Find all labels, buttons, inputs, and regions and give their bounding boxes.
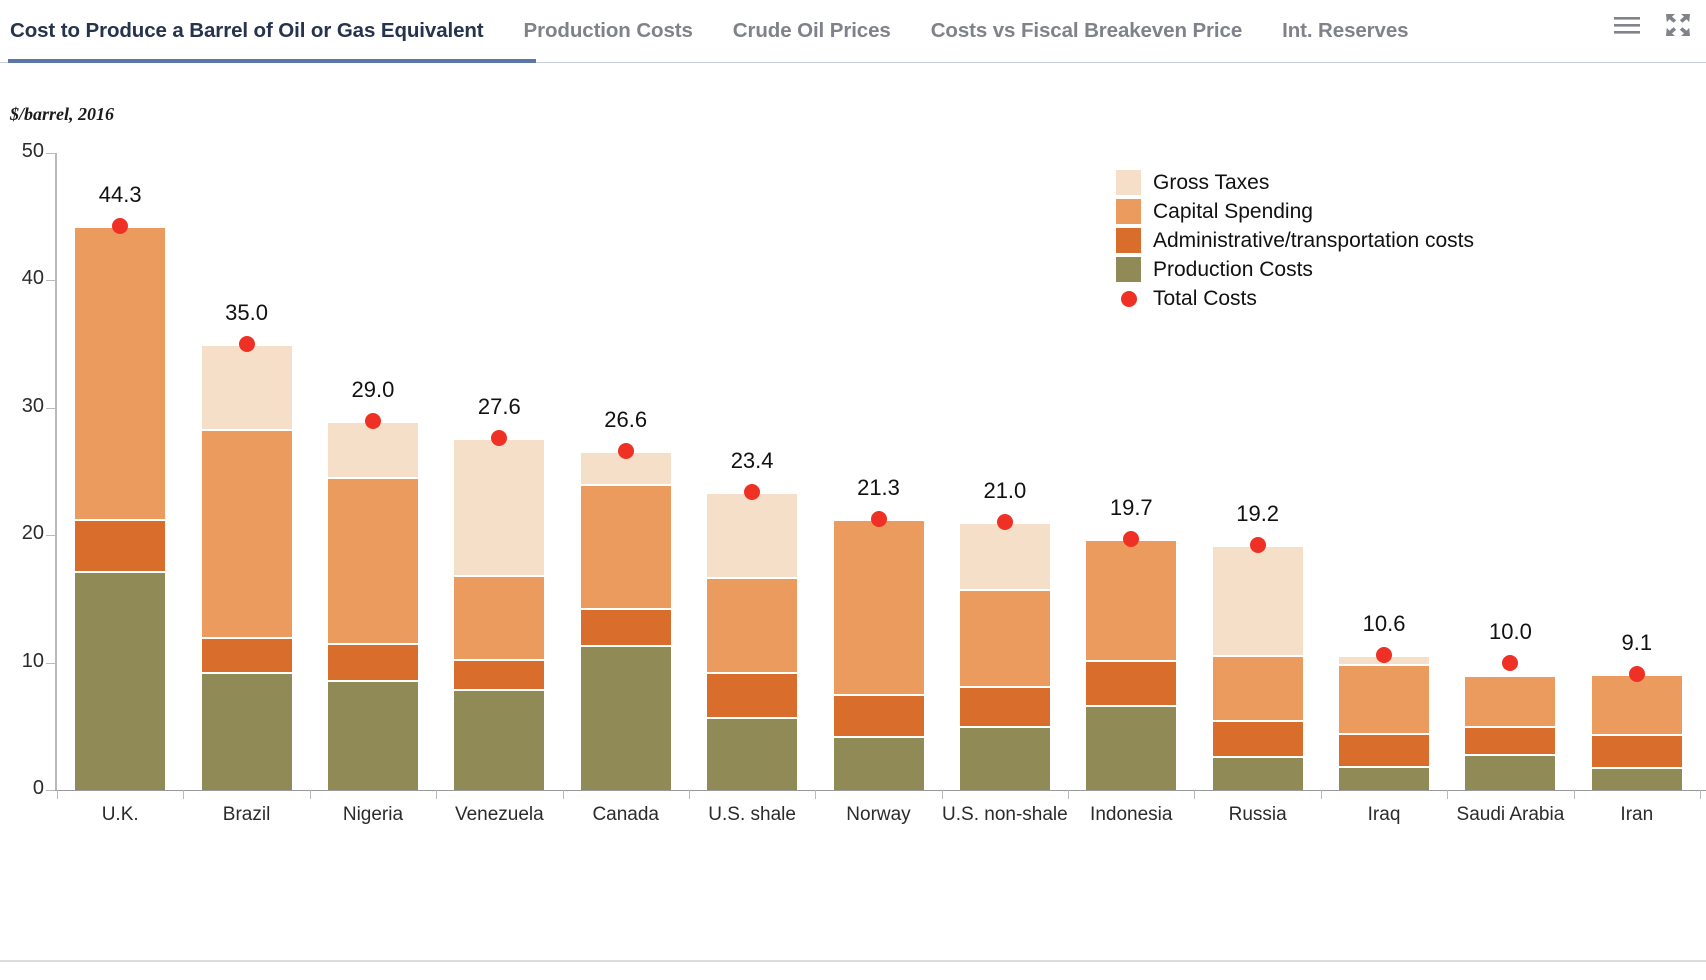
bar-segment[interactable]: [202, 344, 292, 429]
expand-fullscreen-icon[interactable]: [1664, 12, 1692, 38]
bar-stack[interactable]: [834, 140, 924, 790]
tab-cost-to-produce-a-barrel[interactable]: Cost to Produce a Barrel of Oil or Gas E…: [10, 0, 484, 62]
tab-gap: [891, 31, 931, 32]
tab-production-costs[interactable]: Production Costs: [524, 0, 693, 62]
bar-segment[interactable]: [1465, 726, 1555, 754]
bar-segment[interactable]: [454, 438, 544, 574]
bar-segment[interactable]: [328, 643, 418, 680]
chart-legend: Gross TaxesCapital SpendingAdministrativ…: [1116, 168, 1474, 313]
footer-divider: [0, 960, 1706, 962]
tab-int-reserves[interactable]: Int. Reserves: [1282, 0, 1408, 62]
total-cost-marker[interactable]: [1376, 647, 1392, 663]
x-axis-category-label: Norway: [815, 804, 941, 826]
bar-value-label: 19.7: [1071, 495, 1191, 521]
bar-segment[interactable]: [707, 672, 797, 718]
bar-segment[interactable]: [328, 680, 418, 790]
x-axis-category-label: U.K.: [57, 804, 183, 826]
bar-segment[interactable]: [1465, 754, 1555, 790]
legend-item[interactable]: Capital Spending: [1116, 197, 1474, 226]
legend-color-swatch: [1116, 228, 1141, 253]
x-axis-category-label: Venezuela: [436, 804, 562, 826]
bar-segment[interactable]: [707, 492, 797, 577]
x-axis-category-label: Russia: [1194, 804, 1320, 826]
bar-segment[interactable]: [960, 726, 1050, 790]
bar-segment[interactable]: [581, 608, 671, 645]
bar-segment[interactable]: [1213, 545, 1303, 655]
legend-color-swatch: [1116, 257, 1141, 282]
bar-stack[interactable]: [1592, 140, 1682, 790]
bar-value-label: 29.0: [313, 377, 433, 403]
total-cost-marker[interactable]: [365, 413, 381, 429]
legend-label: Total Costs: [1153, 287, 1257, 311]
bar-segment[interactable]: [454, 575, 544, 659]
x-axis-category-label: Canada: [563, 804, 689, 826]
bar-segment[interactable]: [1213, 655, 1303, 720]
x-axis-category-label: Nigeria: [310, 804, 436, 826]
bar-segment[interactable]: [834, 736, 924, 790]
bar-stack[interactable]: [581, 140, 671, 790]
hamburger-menu-icon[interactable]: [1612, 13, 1642, 37]
bar-segment[interactable]: [75, 226, 165, 519]
bar-stack[interactable]: [454, 140, 544, 790]
x-axis-category-label: Brazil: [183, 804, 309, 826]
legend-marker-circle: [1116, 286, 1141, 311]
bar-stack[interactable]: [1465, 140, 1555, 790]
legend-color-swatch: [1116, 199, 1141, 224]
bar-segment[interactable]: [202, 672, 292, 790]
bar-segment[interactable]: [581, 645, 671, 790]
tab-costs-vs-fiscal-breakeven-price[interactable]: Costs vs Fiscal Breakeven Price: [931, 0, 1242, 62]
tab-crude-oil-prices[interactable]: Crude Oil Prices: [733, 0, 891, 62]
x-axis-tick-mark: [310, 790, 311, 799]
legend-item[interactable]: Production Costs: [1116, 255, 1474, 284]
bar-segment[interactable]: [707, 717, 797, 790]
bar-segment[interactable]: [202, 429, 292, 637]
bar-segment[interactable]: [707, 577, 797, 671]
x-axis-category-label: U.S. non-shale: [942, 804, 1068, 826]
bar-segment[interactable]: [1086, 539, 1176, 660]
legend-label: Administrative/transportation costs: [1153, 229, 1474, 253]
bar-segment[interactable]: [75, 571, 165, 790]
x-axis-tick-mark: [183, 790, 184, 799]
bar-segment[interactable]: [1086, 660, 1176, 705]
bar-value-label: 35.0: [187, 300, 307, 326]
legend-label: Capital Spending: [1153, 200, 1313, 224]
x-axis-category-label: Indonesia: [1068, 804, 1194, 826]
bar-value-label: 10.0: [1450, 619, 1570, 645]
bar-value-label: 23.4: [692, 448, 812, 474]
tab-gap: [1242, 31, 1282, 32]
bar-value-label: 21.3: [819, 475, 939, 501]
bar-stack[interactable]: [75, 140, 165, 790]
total-cost-marker[interactable]: [1502, 655, 1518, 671]
x-axis-tick-mark: [1321, 790, 1322, 799]
legend-color-swatch: [1116, 170, 1141, 195]
bar-segment[interactable]: [834, 694, 924, 736]
x-axis-tick-mark: [1194, 790, 1195, 799]
total-cost-marker[interactable]: [871, 511, 887, 527]
tab-bar: Cost to Produce a Barrel of Oil or Gas E…: [0, 0, 1706, 64]
bar-segment[interactable]: [960, 589, 1050, 686]
bar-segment[interactable]: [1592, 734, 1682, 767]
total-cost-marker[interactable]: [239, 336, 255, 352]
tab-gap: [484, 31, 524, 32]
tab-strip: Cost to Produce a Barrel of Oil or Gas E…: [0, 0, 1408, 62]
legend-item[interactable]: Administrative/transportation costs: [1116, 226, 1474, 255]
bar-segment[interactable]: [1339, 766, 1429, 790]
x-axis-category-label: Saudi Arabia: [1447, 804, 1573, 826]
total-cost-marker[interactable]: [744, 484, 760, 500]
bar-segment[interactable]: [328, 421, 418, 477]
bar-stack[interactable]: [328, 140, 418, 790]
legend-item[interactable]: Gross Taxes: [1116, 168, 1474, 197]
bar-value-label: 9.1: [1577, 630, 1697, 656]
toolbar-icons: [1612, 12, 1692, 38]
x-axis-tick-mark: [436, 790, 437, 799]
total-cost-marker[interactable]: [1250, 537, 1266, 553]
x-axis-tick-mark: [57, 790, 58, 799]
bar-segment[interactable]: [1592, 767, 1682, 790]
bar-segment[interactable]: [1339, 733, 1429, 766]
total-cost-marker[interactable]: [1629, 666, 1645, 682]
total-cost-marker[interactable]: [112, 218, 128, 234]
x-axis-category-label: Iran: [1574, 804, 1700, 826]
legend-label: Production Costs: [1153, 258, 1313, 282]
bar-segment[interactable]: [834, 519, 924, 695]
bar-segment[interactable]: [75, 519, 165, 571]
x-axis-tick-mark: [1447, 790, 1448, 799]
bar-value-label: 21.0: [945, 478, 1065, 504]
x-axis-tick-mark: [942, 790, 943, 799]
total-cost-marker[interactable]: [618, 443, 634, 459]
bar-segment[interactable]: [581, 484, 671, 608]
x-axis-category-label: Iraq: [1321, 804, 1447, 826]
legend-label: Gross Taxes: [1153, 171, 1269, 195]
x-axis-tick-mark: [563, 790, 564, 799]
bar-value-label: 44.3: [60, 182, 180, 208]
bar-stack[interactable]: [202, 140, 292, 790]
bar-segment[interactable]: [1086, 705, 1176, 790]
bar-value-label: 26.6: [566, 407, 686, 433]
x-axis-tick-mark: [689, 790, 690, 799]
bar-segment[interactable]: [454, 689, 544, 790]
bar-stack[interactable]: [960, 140, 1050, 790]
legend-dot: [1121, 291, 1137, 307]
bar-segment[interactable]: [454, 659, 544, 690]
bar-value-label: 19.2: [1198, 501, 1318, 527]
tab-strip-lead-spacer: [0, 31, 10, 32]
x-axis-tick-mark: [1700, 790, 1701, 799]
chart-subtitle: $/barrel, 2016: [10, 104, 114, 125]
bar-segment[interactable]: [1213, 720, 1303, 756]
bar-segment[interactable]: [960, 522, 1050, 588]
x-axis-tick-mark: [1574, 790, 1575, 799]
bar-value-label: 10.6: [1324, 611, 1444, 637]
x-axis-tick-mark: [1068, 790, 1069, 799]
bar-segment[interactable]: [1339, 664, 1429, 733]
x-axis-category-label: U.S. shale: [689, 804, 815, 826]
legend-item[interactable]: Total Costs: [1116, 284, 1474, 313]
bar-segment[interactable]: [1465, 675, 1555, 726]
tab-gap: [693, 31, 733, 32]
x-axis-tick-mark: [815, 790, 816, 799]
bar-segment[interactable]: [1592, 674, 1682, 734]
bar-segment[interactable]: [328, 477, 418, 644]
bar-segment[interactable]: [1213, 756, 1303, 790]
bar-segment[interactable]: [960, 686, 1050, 727]
active-tab-underline: [8, 59, 536, 63]
bar-segment[interactable]: [202, 637, 292, 671]
bar-value-label: 27.6: [439, 394, 559, 420]
